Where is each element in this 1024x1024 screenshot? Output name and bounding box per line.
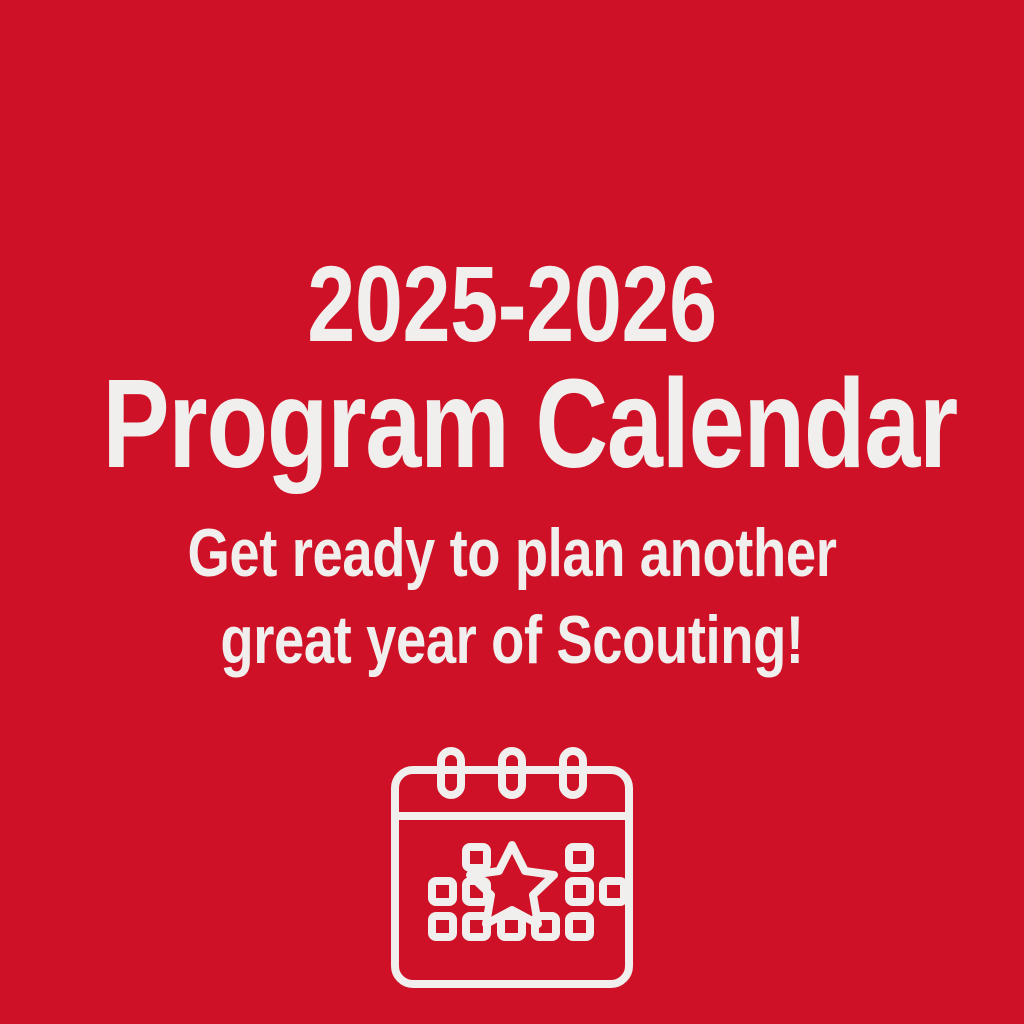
calendar-date-square (603, 881, 624, 902)
subtitle-line-1: Get ready to plan another (102, 510, 921, 597)
calendar-date-square (432, 916, 453, 937)
headline-group: 2025-2026 Program Calendar (0, 252, 1024, 488)
calendar-date-square (535, 916, 556, 937)
calendar-date-square (501, 916, 522, 937)
program-calendar-poster: 2025-2026 Program Calendar Get ready to … (0, 0, 1024, 1024)
calendar-star-icon (387, 746, 637, 996)
calendar-date-square (569, 881, 590, 902)
poster-content: 2025-2026 Program Calendar Get ready to … (0, 0, 1024, 1024)
subtitle-line-2: great year of Scouting! (102, 597, 921, 684)
page-title: Program Calendar (102, 360, 921, 489)
calendar-date-square (466, 916, 487, 937)
subtitle: Get ready to plan another great year of … (0, 510, 1024, 684)
calendar-date-square (466, 881, 487, 902)
calendar-date-square (569, 916, 590, 937)
calendar-date-square (569, 847, 590, 868)
page-title-year: 2025-2026 (102, 252, 921, 356)
calendar-date-square (466, 847, 487, 868)
calendar-date-square (432, 881, 453, 902)
calendar-frame (395, 770, 629, 984)
